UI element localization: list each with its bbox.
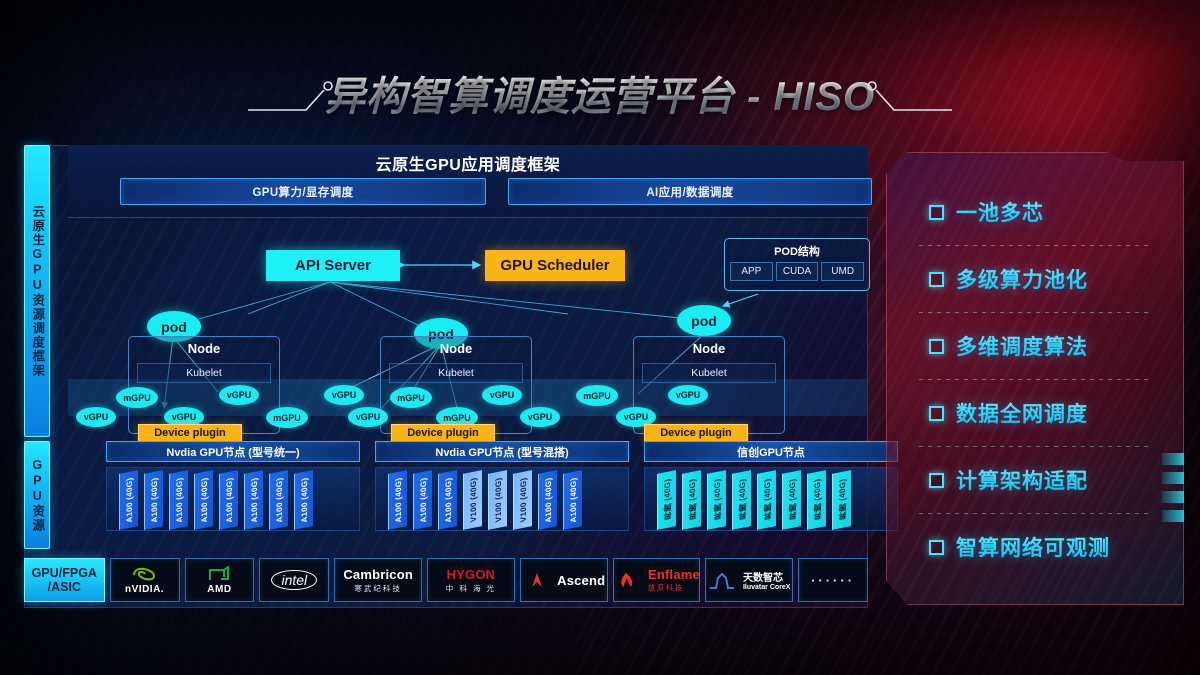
feature-divider: [919, 245, 1153, 246]
gpu-card[interactable]: A100 (40G): [244, 470, 263, 530]
cambricon-logo[interactable]: Cambricon寒武纪科技: [334, 558, 422, 602]
side-tab-gpu-resource: GPU资源: [24, 441, 50, 549]
vendor-subtitle: Iluvatar CoreX: [743, 584, 790, 591]
more-ellipsis[interactable]: ······: [798, 558, 868, 602]
gpu-card-tray-2: A100 (40G)A100 (40G)A100 (40G)V100 (40G)…: [375, 467, 629, 531]
gpu-card[interactable]: 昇腾 (40G): [807, 470, 826, 530]
vendor-logo-row-inner: 天数智芯Iluvatar CoreX: [708, 569, 790, 591]
gpu-group-label: Nvdia GPU节点 (型号统一): [166, 444, 299, 460]
checkbox-square-icon: [929, 272, 944, 287]
feature-divider: [919, 379, 1153, 380]
gpu-card[interactable]: A100 (40G): [169, 470, 188, 530]
vendor-subtitle: 燧原科技: [648, 583, 700, 593]
vgpu-node1-3[interactable]: vGPU: [219, 385, 259, 405]
gpu-card-label: 昇腾 (40G): [687, 478, 698, 521]
side-tab-label: 云原生GPU资源调度框架: [31, 205, 44, 378]
vendor-name: AMD: [207, 584, 231, 595]
vendor-name: Cambricon: [343, 567, 413, 582]
gpu-card-label: 昇腾 (40G): [837, 478, 848, 521]
node-box-3: Node Kubelet: [633, 336, 785, 434]
gpu-card-tray-1: A100 (40G)A100 (40G)A100 (40G)A100 (40G)…: [106, 467, 360, 531]
gpu-card[interactable]: A100 (40G): [144, 470, 163, 530]
amd-logo: [204, 566, 234, 583]
vendor-name: intel: [271, 570, 317, 590]
mgpu-node3-0[interactable]: mGPU: [576, 385, 618, 406]
gpu-card[interactable]: 昇腾 (40G): [682, 470, 701, 530]
gpu-card-label: V100 (40G): [494, 477, 503, 523]
gpu-card[interactable]: V100 (40G): [463, 470, 482, 530]
gpu-card-label: 昇腾 (40G): [762, 478, 773, 521]
gpu-resource-area: Nvdia GPU节点 (型号统一) Nvdia GPU节点 (型号混搭) 信创…: [68, 441, 868, 549]
checkbox-square-icon: [929, 339, 944, 354]
feature-divider: [919, 513, 1153, 514]
gpu-scheduler-box[interactable]: GPU Scheduler: [485, 250, 625, 281]
gpu-card-label: A100 (40G): [225, 477, 234, 524]
feature-item-6[interactable]: 智算网络可观测: [887, 514, 1185, 580]
gpu-card-label: A100 (40G): [300, 477, 309, 524]
vendor-subtitle: 寒武纪科技: [354, 583, 402, 594]
hygon-logo[interactable]: HYGON中 科 海 光: [427, 558, 515, 602]
vendor-subtitle: 中 科 海 光: [446, 583, 496, 594]
feature-label: 一池多芯: [956, 197, 1044, 227]
page-title-area: 异构智算调度运营平台 - HISO: [0, 62, 1200, 124]
vendor-name: 天数智芯: [743, 569, 790, 584]
gpu-card[interactable]: A100 (40G): [294, 470, 313, 530]
vendor-name: Enflame: [648, 567, 700, 582]
gpu-group-header-3[interactable]: 信创GPU节点: [644, 441, 898, 462]
vgpu-node2-1[interactable]: vGPU: [348, 407, 388, 427]
iluvatar-logo: [708, 572, 738, 589]
gpu-group-label: 信创GPU节点: [737, 444, 805, 460]
kubelet-box: Kubelet: [137, 363, 271, 383]
gpu-card[interactable]: A100 (40G): [538, 470, 557, 530]
gpu-card-label: A100 (40G): [569, 477, 578, 524]
gpu-card-label: 昇腾 (40G): [662, 478, 673, 521]
intel-logo[interactable]: intel: [259, 558, 329, 602]
side-tab-label: GPU资源: [31, 458, 44, 533]
gpu-card-tray-3: 昇腾 (40G)昇腾 (40G)昇腾 (40G)昇腾 (40G)昇腾 (40G)…: [644, 467, 898, 531]
feature-item-3[interactable]: 多维调度算法: [887, 313, 1185, 379]
feature-panel: 一池多芯多级算力池化多维调度算法数据全网调度计算架构适配智算网络可观测: [886, 152, 1184, 605]
architecture-diagram: 云原生GPU资源调度框架 GPU资源 云原生GPU应用调度框架 GPU算力/显存…: [24, 145, 868, 608]
pod-cell-umd: UMD: [821, 262, 864, 281]
pod-node-3[interactable]: pod: [677, 305, 731, 336]
gpu-card[interactable]: A100 (40G): [219, 470, 238, 530]
feature-label: 计算架构适配: [956, 465, 1088, 495]
ascend-logo: [522, 572, 552, 589]
feature-item-1[interactable]: 一池多芯: [887, 179, 1185, 245]
gpu-card[interactable]: 昇腾 (40G): [707, 470, 726, 530]
pod-structure-box: POD结构 APP CUDA UMD: [724, 238, 870, 291]
pod-structure-cells: APP CUDA UMD: [725, 259, 869, 281]
gpu-card-label: A100 (40G): [250, 477, 259, 524]
device-plugin-2[interactable]: Device plugin: [391, 424, 495, 442]
checkbox-square-icon: [929, 406, 944, 421]
feature-item-2[interactable]: 多级算力池化: [887, 246, 1185, 312]
feature-list: 一池多芯多级算力池化多维调度算法数据全网调度计算架构适配智算网络可观测: [887, 153, 1185, 606]
mgpu-node1-4[interactable]: mGPU: [266, 407, 308, 428]
vendor-label-line2: /ASIC: [48, 580, 81, 594]
node-title: Node: [129, 341, 279, 356]
feature-label: 智算网络可观测: [956, 532, 1110, 562]
feature-divider: [919, 446, 1153, 447]
framework-header-band: 云原生GPU应用调度框架 GPU算力/显存调度 AI应用/数据调度: [68, 145, 868, 218]
gpu-card-label: 昇腾 (40G): [787, 478, 798, 521]
header-bar-label: GPU算力/显存调度: [252, 184, 353, 200]
vendor-name: nVIDIA.: [125, 584, 164, 595]
amd-logo[interactable]: AMD: [185, 558, 255, 602]
gpu-card-label: A100 (40G): [544, 477, 553, 524]
vendor-label-line1: GPU/FPGA: [32, 566, 97, 580]
feature-item-5[interactable]: 计算架构适配: [887, 447, 1185, 513]
header-bar-label: AI应用/数据调度: [646, 184, 733, 200]
gpu-card-label: A100 (40G): [444, 477, 453, 524]
vendor-name: Ascend: [557, 573, 605, 588]
gpu-card[interactable]: 昇腾 (40G): [657, 470, 676, 530]
gpu-group-header-1[interactable]: Nvdia GPU节点 (型号统一): [106, 441, 360, 462]
node-box-1: Node Kubelet: [128, 336, 280, 434]
vgpu-node2-5[interactable]: vGPU: [520, 407, 560, 427]
gpu-card[interactable]: 昇腾 (40G): [832, 470, 851, 530]
gpu-group-header-2[interactable]: Nvdia GPU节点 (型号混搭): [375, 441, 629, 462]
gpu-card[interactable]: 昇腾 (40G): [782, 470, 801, 530]
vgpu-node1-0[interactable]: vGPU: [76, 407, 116, 427]
title-decoration-left-icon: [248, 62, 348, 124]
gpu-card[interactable]: 昇腾 (40G): [732, 470, 751, 530]
enflame-logo[interactable]: Enflame燧原科技: [613, 558, 701, 602]
feature-item-4[interactable]: 数据全网调度: [887, 380, 1185, 446]
gpu-card-label: V100 (40G): [469, 477, 478, 523]
gpu-card-label: A100 (40G): [150, 477, 159, 524]
pod-structure-title: POD结构: [725, 243, 869, 259]
checkbox-square-icon: [929, 540, 944, 555]
vendor-logo-row-inner: Enflame燧原科技: [613, 567, 700, 593]
gpu-card-label: A100 (40G): [200, 477, 209, 524]
gpu-card[interactable]: V100 (40G): [513, 470, 532, 530]
gpu-card[interactable]: 昇腾 (40G): [757, 470, 776, 530]
vgpu-node2-4[interactable]: vGPU: [482, 385, 522, 405]
gpu-card-label: 昇腾 (40G): [812, 478, 823, 521]
ascend-logo[interactable]: Ascend: [520, 558, 608, 602]
gpu-card[interactable]: A100 (40G): [413, 470, 432, 530]
api-server-box[interactable]: API Server: [266, 250, 400, 281]
pod-cell-cuda: CUDA: [776, 262, 819, 281]
vendor-row-label: GPU/FPGA /ASIC: [24, 558, 105, 602]
enflame-logo: [613, 572, 643, 589]
side-tab-cloud-native-framework: 云原生GPU资源调度框架: [24, 145, 50, 437]
gpu-card[interactable]: A100 (40G): [119, 470, 138, 530]
page-title: 异构智算调度运营平台 - HISO: [325, 64, 875, 122]
gpu-card-label: A100 (40G): [175, 477, 184, 524]
framework-title: 云原生GPU应用调度框架: [68, 151, 868, 175]
kubelet-box: Kubelet: [642, 363, 776, 383]
feature-label: 多级算力池化: [956, 264, 1088, 294]
panel-chevron-decoration-icon: [1162, 453, 1184, 545]
checkbox-square-icon: [929, 473, 944, 488]
feature-divider: [919, 312, 1153, 313]
scheduling-framework-area: API Server GPU Scheduler POD结构 APP CUDA …: [68, 218, 868, 436]
nvidia-logo[interactable]: nVIDIA.: [110, 558, 180, 602]
gpu-card-label: A100 (40G): [419, 477, 428, 524]
iluvatar-logo[interactable]: 天数智芯Iluvatar CoreX: [705, 558, 793, 602]
gpu-card[interactable]: V100 (40G): [488, 470, 507, 530]
checkbox-square-icon: [929, 205, 944, 220]
node-title: Node: [634, 341, 784, 356]
gpu-card[interactable]: A100 (40G): [269, 470, 288, 530]
feature-label: 多维调度算法: [956, 331, 1088, 361]
gpu-card-label: V100 (40G): [519, 477, 528, 523]
nvidia-logo: [130, 566, 160, 583]
gpu-group-label: Nvdia GPU节点 (型号混搭): [435, 444, 568, 460]
gpu-card-label: A100 (40G): [125, 477, 134, 524]
device-plugin-1[interactable]: Device plugin: [138, 424, 242, 442]
gpu-card[interactable]: A100 (40G): [388, 470, 407, 530]
gpu-card-label: A100 (40G): [275, 477, 284, 524]
vendor-logo-row-inner: Ascend: [522, 572, 605, 589]
mgpu-node2-2[interactable]: mGPU: [390, 387, 432, 408]
gpu-card-label: A100 (40G): [394, 477, 403, 524]
vendor-more-label: ······: [811, 573, 855, 588]
vendor-name: HYGON: [447, 567, 496, 582]
feature-label: 数据全网调度: [956, 398, 1088, 428]
gpu-card[interactable]: A100 (40G): [438, 470, 457, 530]
gpu-card-label: 昇腾 (40G): [712, 478, 723, 521]
vendor-logo-row: GPU/FPGA /ASIC nVIDIA.AMDintelCambricon寒…: [24, 558, 868, 602]
gpu-card[interactable]: A100 (40G): [563, 470, 582, 530]
vgpu-node2-0[interactable]: vGPU: [324, 385, 364, 405]
pod-cell-app: APP: [730, 262, 773, 281]
diagram-inner: 云原生GPU应用调度框架 GPU算力/显存调度 AI应用/数据调度: [58, 145, 868, 608]
title-decoration-right-icon: [852, 62, 952, 124]
device-plugin-3[interactable]: Device plugin: [644, 424, 748, 442]
mgpu-node1-1[interactable]: mGPU: [116, 387, 158, 408]
header-bar-gpu-compute[interactable]: GPU算力/显存调度: [120, 178, 486, 205]
gpu-card-label: 昇腾 (40G): [737, 478, 748, 521]
kubelet-box: Kubelet: [389, 363, 523, 383]
header-bar-ai-application[interactable]: AI应用/数据调度: [508, 178, 872, 205]
vgpu-node3-2[interactable]: vGPU: [668, 385, 708, 405]
gpu-card[interactable]: A100 (40G): [194, 470, 213, 530]
node-title: Node: [381, 341, 531, 356]
